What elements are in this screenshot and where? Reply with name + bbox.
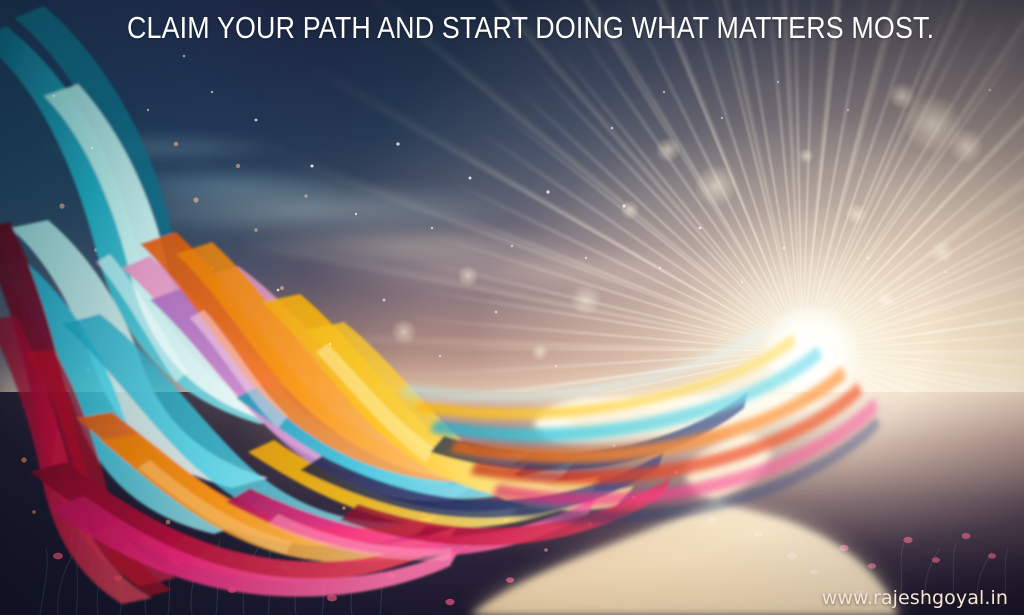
meadow-ground [0, 392, 1024, 615]
watermark-url: www.rajeshgoyal.in [822, 587, 1008, 609]
bokeh-lights [0, 0, 1024, 615]
path-highlight [536, 393, 800, 438]
ribbon-amber-low [100, 434, 458, 562]
ribbon-navy-2 [430, 392, 748, 471]
path-halo [470, 392, 900, 615]
ribbon-lilac-1 [150, 288, 478, 501]
ribbon-crimson-left [0, 316, 152, 604]
ribbon-mint-2 [10, 220, 268, 488]
ribbon-cyan-mid [62, 314, 420, 539]
ribbon-teal-outer [0, 26, 300, 424]
sun-core-glow [0, 0, 1024, 615]
ribbon-orange-low [76, 412, 438, 546]
ribbon-yellow-low [248, 440, 600, 528]
ribbon-orange-1 [140, 232, 492, 482]
ribbon-navy-1 [300, 452, 664, 518]
ribbon-pink-1 [122, 256, 470, 486]
ribbon-cyan-lower [0, 260, 244, 534]
ribbon-crimson-low-2 [340, 478, 670, 546]
sky-gradient [0, 0, 1024, 615]
winding-path [0, 0, 1024, 615]
ribbon-pink-2 [200, 266, 530, 473]
ribbon-tails [400, 324, 880, 524]
orange-ember-dots [21, 142, 717, 552]
sparkle-particles [0, 0, 1024, 615]
ground-sun-wash [0, 392, 1024, 615]
ribbon-crimson-low [30, 462, 448, 581]
sky-warm-right-glow [0, 0, 1024, 615]
ribbon-mint [44, 84, 296, 420]
ribbon-highlights [96, 254, 452, 561]
page-title: CLAIM YOUR PATH AND START DOING WHAT MAT… [127, 12, 934, 43]
sun-rays-fine [50, 0, 1024, 615]
sun-rays-broad [50, 0, 1024, 615]
ribbon-gold-1 [306, 322, 634, 510]
ribbon-deepteal [14, 6, 338, 418]
sparkle-dots [53, 55, 991, 368]
wispy-clouds [0, 0, 1024, 615]
ribbon-amber-1 [176, 242, 528, 482]
vignette [0, 0, 1024, 615]
ribbon-magenta-low-2 [226, 488, 598, 556]
banner-image: CLAIM YOUR PATH AND START DOING WHAT MAT… [0, 0, 1024, 615]
ribbon-magenta-low [48, 496, 460, 597]
path-surface [470, 392, 898, 615]
ribbon-yellow-1 [262, 294, 600, 500]
ribbon-cyan-mid-2 [236, 384, 576, 499]
horizon-haze [0, 355, 1024, 465]
bokeh-circles [391, 82, 984, 361]
ribbon-group [0, 6, 880, 604]
meadow-flowers-and-grass [0, 0, 1024, 615]
ribbon-red-left [26, 350, 172, 596]
meadow-shadow-left [0, 392, 430, 615]
sky-cool-left-glow [0, 0, 1024, 615]
ribbon-maroon-left [0, 222, 176, 586]
color-ribbon-swoosh [0, 0, 1024, 615]
